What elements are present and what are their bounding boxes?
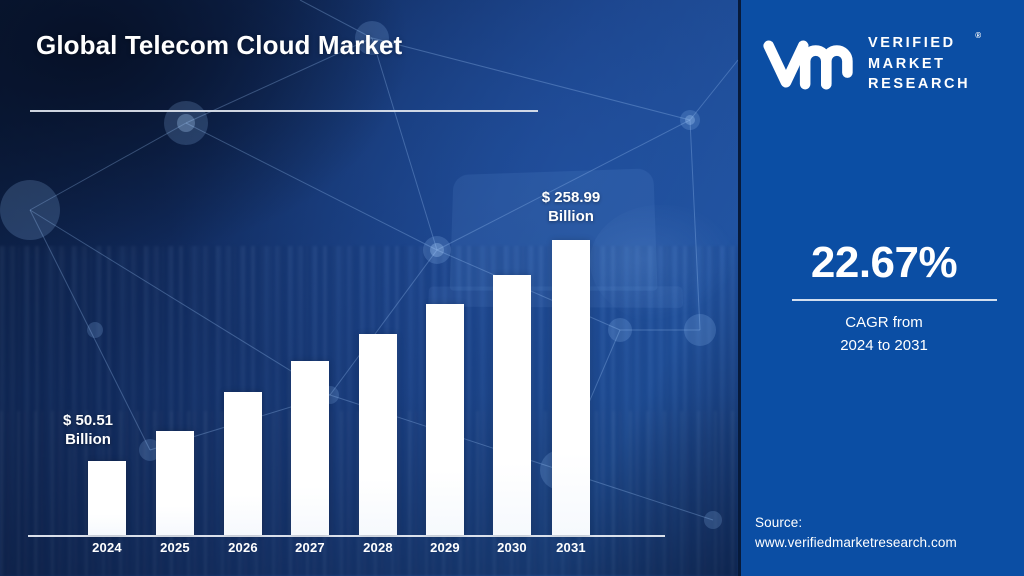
bar-2025[interactable] [156,431,194,535]
brand-name: VERIFIED MARKET RESEARCH ® [868,33,970,95]
bar-2027[interactable] [291,361,329,535]
infographic-root: Global Telecom Cloud Market 2024 2025 20… [0,0,1024,576]
chart-panel: Global Telecom Cloud Market 2024 2025 20… [0,0,738,576]
source-block: Source: www.verifiedmarketresearch.com [755,513,1024,553]
source-url[interactable]: www.verifiedmarketresearch.com [755,533,1024,553]
brand-line-verified: VERIFIED [868,33,970,54]
brand-line-market: MARKET [868,54,970,75]
data-label-2024: $ 50.51 Billion [23,411,153,449]
data-label-2031-amount: $ 258.99 [506,188,636,207]
bar-2028[interactable] [359,334,397,535]
brand-panel: VERIFIED MARKET RESEARCH ® 22.67% CAGR f… [738,0,1024,576]
data-label-2031: $ 258.99 Billion [506,188,636,226]
vmr-logo-icon [761,36,857,92]
brand-logo[interactable]: VERIFIED MARKET RESEARCH ® [761,28,1011,100]
bar-2031[interactable] [552,240,590,535]
data-label-2024-unit: Billion [23,430,153,449]
brand-line-research: RESEARCH [868,74,970,95]
data-label-2024-amount: $ 50.51 [23,411,153,430]
cagr-caption-line2: 2024 to 2031 [741,335,1024,358]
data-label-2031-unit: Billion [506,207,636,226]
bar-2026[interactable] [224,392,262,535]
cagr-divider [792,299,997,301]
cagr-value: 22.67% [741,238,1024,288]
cagr-caption: CAGR from 2024 to 2031 [741,312,1024,357]
cagr-caption-line1: CAGR from [741,312,1024,335]
registered-trademark-icon: ® [975,30,981,41]
bar-2030[interactable] [493,275,531,535]
x-tick-2031: 2031 [528,540,614,555]
bar-2024[interactable] [88,461,126,535]
source-label: Source: [755,513,1024,533]
bar-2029[interactable] [426,304,464,535]
x-axis-line [28,535,665,537]
bar-chart: 2024 2025 2026 2027 2028 2029 2030 2031 … [0,0,738,576]
